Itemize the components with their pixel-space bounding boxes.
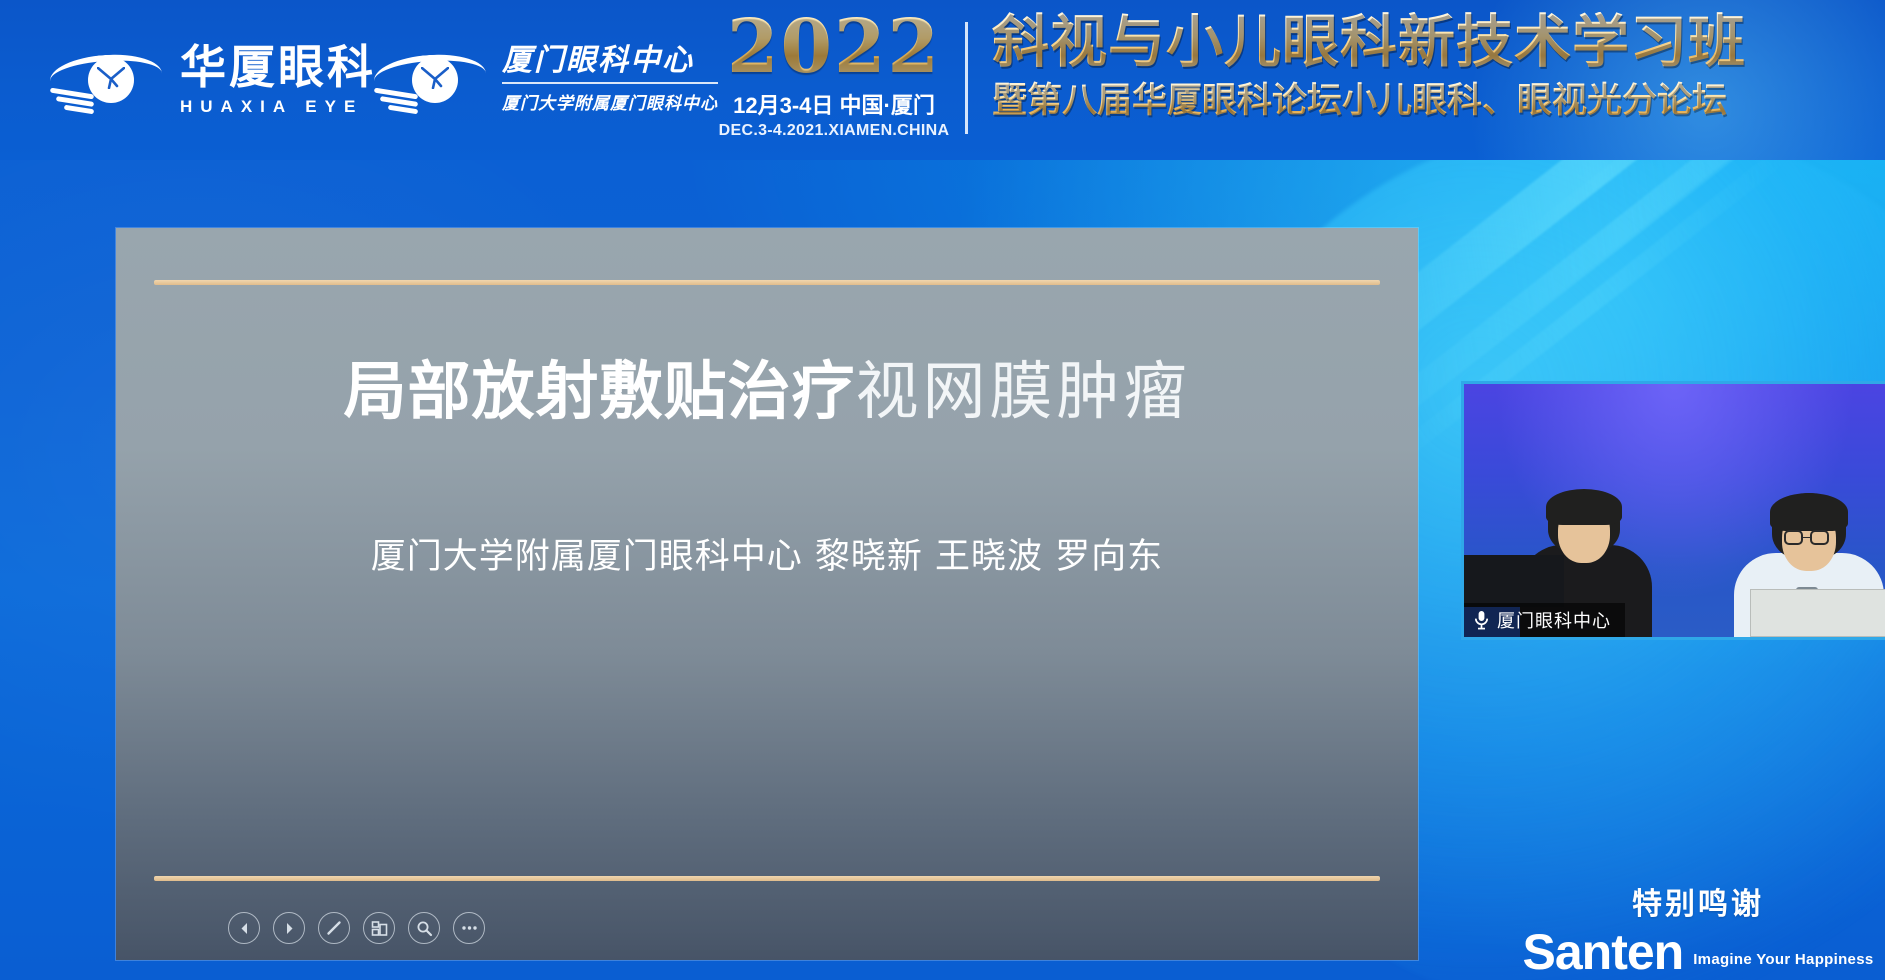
triangle-left-icon — [238, 922, 251, 935]
more-button[interactable] — [453, 912, 485, 944]
prev-slide-button[interactable] — [228, 912, 260, 944]
event-year: 2022 — [718, 10, 950, 84]
layers-icon — [371, 920, 388, 937]
event-sub-title: 暨第八届华厦眼科论坛小儿眼科、眼视光分论坛 — [992, 80, 1872, 124]
sponsor-block: 特别鸣谢 Santen Imagine Your Happiness — [1533, 879, 1863, 977]
brand-xiamen-eye-center: 厦门眼科中心 厦门大学附属厦门眼科中心 — [372, 0, 718, 160]
slide-author-line: 厦门大学附属厦门眼科中心 黎晓新 王晓波 罗向东 — [116, 528, 1418, 579]
sponsor-tagline: Imagine Your Happiness — [1693, 951, 1873, 976]
bird-mark-icon — [421, 67, 449, 89]
sponsor-thanks-label: 特别鸣谢 — [1533, 879, 1863, 923]
magnifier-icon — [416, 920, 433, 937]
slide-toolbar — [228, 912, 485, 944]
event-banner: 华厦眼科 HUAXIA EYE 厦门眼科中心 厦门大学附属厦门眼科中心 2022… — [0, 0, 1885, 160]
sponsor-logo: Santen Imagine Your Happiness — [1533, 929, 1863, 977]
bird-mark-icon — [97, 67, 125, 89]
microphone-icon — [1474, 610, 1489, 630]
speaker-name-badge: 厦门眼科中心 — [1464, 603, 1625, 637]
thumbnails-button[interactable] — [363, 912, 395, 944]
event-date-en: DEC.3-4.2021.XIAMEN.CHINA — [718, 122, 950, 140]
slide-rule-bottom — [154, 876, 1380, 881]
event-date-cn: 12月3-4日 中国·厦门 — [718, 88, 950, 120]
ellipsis-icon — [461, 925, 478, 931]
speaker-video-panel[interactable]: 厦门眼科中心 — [1461, 381, 1885, 640]
event-title-block: 斜视与小儿眼科新技术学习班 暨第八届华厦眼科论坛小儿眼科、眼视光分论坛 — [992, 12, 1872, 123]
eye-logo-icon — [48, 47, 166, 113]
slide-title-strong: 局部放射敷贴治疗 — [344, 355, 856, 428]
brand-divider — [502, 82, 718, 84]
brand-xiamen-sub: 厦门大学附属厦门眼科中心 — [502, 89, 718, 114]
slide-title: 局部放射敷贴治疗视网膜肿瘤 — [116, 356, 1418, 428]
zoom-button[interactable] — [408, 912, 440, 944]
slide-title-light: 视网膜肿瘤 — [856, 355, 1191, 428]
presentation-slide[interactable]: 局部放射敷贴治疗视网膜肿瘤 厦门大学附属厦门眼科中心 黎晓新 王晓波 罗向东 — [116, 228, 1418, 960]
slide-rule-top — [154, 280, 1380, 285]
next-slide-button[interactable] — [273, 912, 305, 944]
event-main-title: 斜视与小儿眼科新技术学习班 — [992, 12, 1872, 74]
brand-huaxia-en: HUAXIA EYE — [180, 97, 376, 117]
brand-huaxia-cn: 华厦眼科 — [180, 44, 376, 90]
annotate-button[interactable] — [318, 912, 350, 944]
brand-xiamen-cn: 厦门眼科中心 — [502, 46, 718, 76]
pen-icon — [325, 919, 343, 937]
eye-logo-icon — [372, 47, 490, 113]
banner-vertical-divider — [965, 22, 968, 134]
brand-huaxia: 华厦眼科 HUAXIA EYE — [48, 0, 376, 160]
screen-background: 华厦眼科 HUAXIA EYE 厦门眼科中心 厦门大学附属厦门眼科中心 2022… — [0, 0, 1885, 980]
event-date-block: 2022 12月3-4日 中国·厦门 DEC.3-4.2021.XIAMEN.C… — [718, 10, 950, 140]
laptop-right — [1750, 589, 1885, 637]
triangle-right-icon — [283, 922, 296, 935]
speaker-name-text: 厦门眼科中心 — [1497, 607, 1611, 633]
laptop-left — [1464, 555, 1564, 607]
sponsor-brand-name: Santen — [1523, 929, 1684, 977]
